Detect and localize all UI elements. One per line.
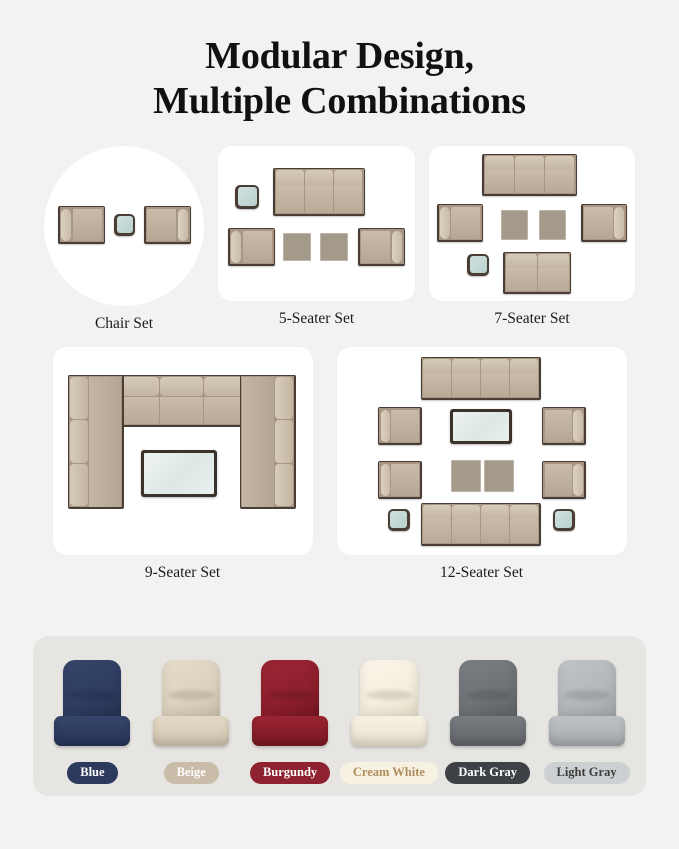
color-label-pill: Light Gray (544, 762, 630, 784)
color-swatch-beige[interactable]: Beige (143, 660, 239, 784)
config-card-9-seater-set[interactable]: 9-Seater Set (53, 347, 313, 582)
ottoman-piece (283, 233, 311, 261)
chair-piece (542, 461, 586, 499)
config-diagram-12-seater-set (337, 347, 627, 555)
page-title: Modular Design, Multiple Combinations (0, 0, 679, 124)
config-label: Chair Set (95, 315, 153, 333)
sectional-left-arm (68, 375, 124, 509)
side-table-piece (553, 509, 575, 531)
config-label: 12-Seater Set (440, 564, 523, 582)
color-label-pill: Dark Gray (445, 762, 530, 784)
side-table-piece (388, 509, 410, 531)
color-swatch-burgundy[interactable]: Burgundy (242, 660, 338, 784)
color-swatch-dark-gray[interactable]: Dark Gray (440, 660, 536, 784)
side-table-piece (467, 254, 489, 276)
chair-piece (58, 206, 105, 244)
sofa-4seat-piece (421, 503, 541, 546)
config-card-7-seater-set[interactable]: 7-Seater Set (429, 146, 635, 328)
config-diagram-9-seater-set (53, 347, 313, 555)
sofa-4seat-piece (421, 357, 541, 400)
configuration-row-top: Chair Set 5-Seater Set (0, 146, 679, 333)
color-label-pill: Cream White (340, 762, 438, 784)
color-label-pill: Burgundy (250, 762, 330, 784)
ottoman-piece (539, 210, 566, 240)
color-swatch-cream-white[interactable]: Cream White (341, 660, 437, 784)
chair-piece (228, 228, 275, 266)
side-table-piece (114, 214, 135, 236)
chair-piece (542, 407, 586, 445)
config-card-12-seater-set[interactable]: 12-Seater Set (337, 347, 627, 582)
glass-coffee-table-piece (450, 409, 512, 444)
config-label: 7-Seater Set (494, 310, 569, 328)
cushion-preview (549, 660, 625, 752)
sofa-3seat-piece (482, 154, 577, 196)
color-label-pill: Beige (164, 762, 219, 784)
color-swatch-blue[interactable]: Blue (44, 660, 140, 784)
config-card-5-seater-set[interactable]: 5-Seater Set (218, 146, 415, 328)
ottoman-piece (484, 460, 514, 492)
config-label: 5-Seater Set (279, 310, 354, 328)
loveseat-2seat-piece (503, 252, 571, 294)
ottoman-piece (501, 210, 528, 240)
config-diagram-chair-set (44, 146, 204, 306)
config-diagram-7-seater-set (429, 146, 635, 301)
title-line-2: Multiple Combinations (0, 79, 679, 124)
cushion-preview (54, 660, 130, 752)
cushion-preview (252, 660, 328, 752)
sectional-right-arm (240, 375, 296, 509)
config-card-chair-set[interactable]: Chair Set (44, 146, 204, 333)
cushion-preview (351, 660, 427, 752)
chair-piece (581, 204, 627, 242)
chair-piece (378, 407, 422, 445)
ottoman-piece (320, 233, 348, 261)
title-line-1: Modular Design, (0, 34, 679, 79)
ottoman-piece (451, 460, 481, 492)
chair-piece (437, 204, 483, 242)
side-table-piece (235, 185, 259, 209)
color-swatch-light-gray[interactable]: Light Gray (539, 660, 635, 784)
chair-piece (358, 228, 405, 266)
config-label: 9-Seater Set (145, 564, 220, 582)
color-options-panel: Blue Beige Burgundy Cream White Dark Gra… (33, 636, 646, 796)
glass-coffee-table-piece (141, 450, 217, 497)
chair-piece (144, 206, 191, 244)
chair-piece (378, 461, 422, 499)
cushion-preview (450, 660, 526, 752)
cushion-preview (153, 660, 229, 752)
color-label-pill: Blue (67, 762, 117, 784)
sofa-3seat-piece (273, 168, 365, 216)
config-diagram-5-seater-set (218, 146, 415, 301)
configuration-row-bottom: 9-Seater Set (0, 347, 679, 582)
